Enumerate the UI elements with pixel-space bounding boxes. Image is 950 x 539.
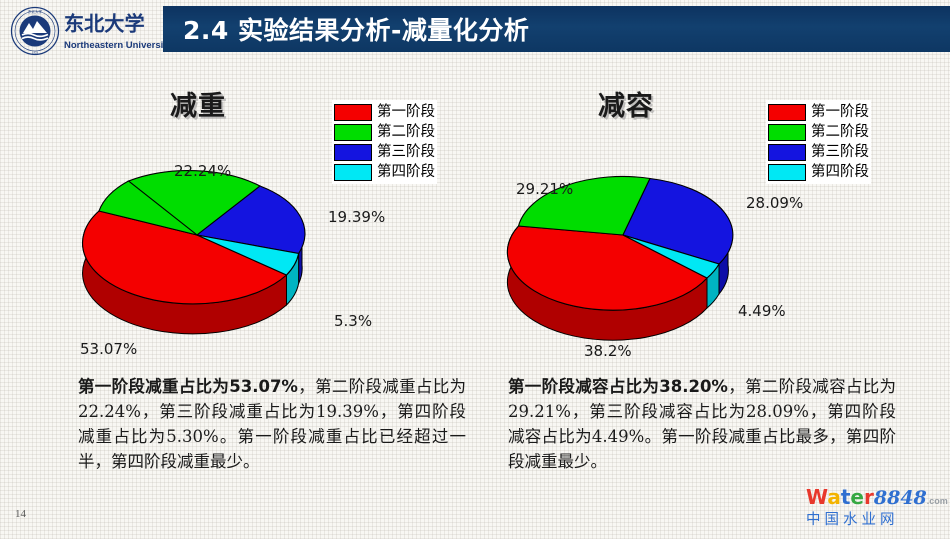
watermark-wordmark: Water8848.com <box>806 487 944 512</box>
university-english-name: Northeastern University <box>64 40 164 51</box>
legend-swatch-stage1-icon <box>334 104 372 121</box>
chart-title-left: 减重 <box>170 84 226 123</box>
watermark-number: 8848 <box>874 487 927 509</box>
university-seal-icon: 东北大学 1923 <box>10 6 60 56</box>
pie-label-stage4-right: 4.49% <box>738 302 786 320</box>
chart-title-right: 减容 <box>598 84 654 123</box>
analysis-paragraph-right: 第一阶段减容占比为38.20%，第二阶段减容占比为29.21%，第三阶段减容占比… <box>508 374 896 474</box>
svg-text:东北大学: 东北大学 <box>28 9 42 14</box>
chart-panel-volume-reduction: 减容 第一阶段 第二阶段 第三阶段 第四阶段 <box>488 74 918 364</box>
watermark-letter-t: t <box>841 485 851 509</box>
watermark-letter-w: W <box>806 485 827 509</box>
pie-label-stage1-right: 38.2% <box>584 342 632 360</box>
legend-label-stage1: 第一阶段 <box>811 105 869 120</box>
pie-chart-left <box>62 130 492 364</box>
watermark-chinese: 中国水业网 <box>806 512 944 529</box>
university-wordmark-icon: 东北大学 <box>64 8 160 40</box>
watermark-dotcom: .com <box>927 496 948 506</box>
slide-header-bar: 2.4 实验结果分析-减量化分析 <box>163 6 950 52</box>
pie-label-stage3-left: 19.39% <box>328 208 385 226</box>
chart-panel-weight-reduction: 减重 第一阶段 第二阶段 第三阶段 第四阶段 <box>62 74 492 364</box>
page-title: 2.4 实验结果分析-减量化分析 <box>183 11 529 47</box>
pie-label-stage2-left: 22.24% <box>174 162 231 180</box>
pie-chart-right <box>488 130 918 364</box>
analysis-paragraph-right-lead: 第一阶段减容占比为38.20% <box>508 377 728 396</box>
watermark-letter-e: e <box>850 485 864 509</box>
legend-label-stage1: 第一阶段 <box>377 105 435 120</box>
watermark-logo: Water8848.com 中国水业网 <box>806 487 944 529</box>
pie-label-stage4-left: 5.3% <box>334 312 372 330</box>
analysis-paragraph-left-lead: 第一阶段减重占比为53.07% <box>78 377 298 396</box>
legend-item-stage1[interactable]: 第一阶段 <box>333 102 436 122</box>
pie-label-stage3-right: 28.09% <box>746 194 803 212</box>
legend-item-stage1[interactable]: 第一阶段 <box>767 102 870 122</box>
svg-text:1923: 1923 <box>32 51 39 55</box>
pie-label-stage2-right: 29.21% <box>516 180 573 198</box>
university-logo: 东北大学 1923 东北大学 Northeastern University <box>4 2 162 60</box>
legend-swatch-stage1-icon <box>768 104 806 121</box>
svg-text:东北大学: 东北大学 <box>64 12 145 36</box>
watermark-letter-a: a <box>827 485 841 509</box>
slide-canvas: 东北大学 1923 东北大学 Northeastern University 2… <box>0 0 950 539</box>
pie-label-stage1-left: 53.07% <box>80 340 137 358</box>
watermark-letter-r: r <box>864 485 874 509</box>
analysis-paragraph-left: 第一阶段减重占比为53.07%，第二阶段减重占比为22.24%，第三阶段减重占比… <box>78 374 466 474</box>
page-number: 14 <box>15 508 26 520</box>
